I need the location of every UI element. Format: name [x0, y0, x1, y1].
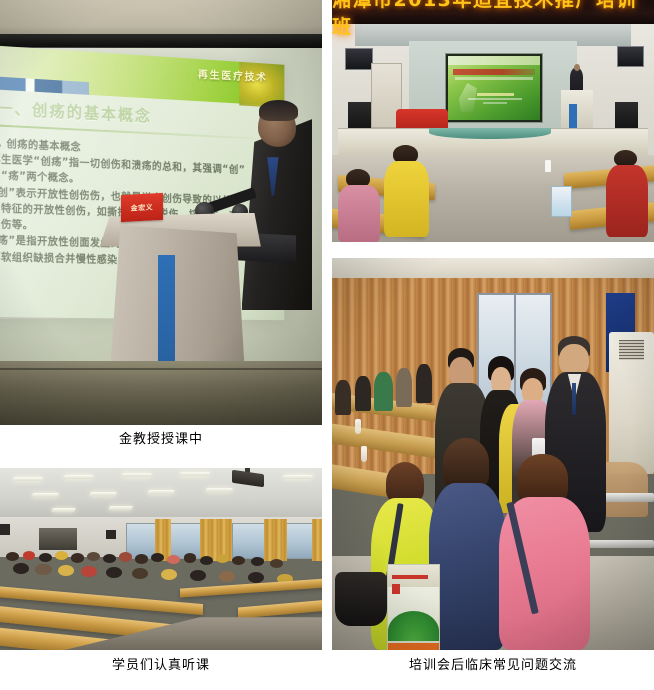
student-head — [81, 566, 97, 577]
ceiling-light — [282, 475, 313, 479]
student-head — [39, 553, 52, 562]
photo-banner-image: 湘潭市2013年适宜技术推广培训班 — [332, 0, 654, 242]
attendee-body — [384, 161, 429, 237]
ceiling-light — [64, 475, 95, 479]
attendee — [338, 169, 380, 242]
student-head — [87, 552, 100, 561]
vignette — [332, 258, 654, 650]
attendee — [606, 150, 648, 237]
student-head — [119, 552, 132, 561]
student-head — [167, 555, 180, 564]
student-head — [216, 554, 229, 563]
stage-slide-topbar — [448, 56, 541, 65]
student-head — [132, 568, 148, 579]
vignette — [0, 0, 322, 425]
tote-bag — [551, 186, 572, 217]
ceiling-light — [89, 492, 117, 496]
student-head — [184, 553, 197, 562]
stage-slide-date-bar — [483, 102, 507, 104]
student-head — [6, 552, 19, 561]
student-head — [71, 553, 84, 562]
stage-slide — [448, 56, 541, 120]
student-head — [13, 563, 29, 574]
wall-monitor-right — [617, 46, 645, 67]
stage-slide-affil-bar — [468, 98, 522, 100]
student-head — [35, 564, 51, 575]
stage-slide-author-bar — [477, 93, 514, 96]
student-head — [23, 551, 36, 560]
wall-monitor-left — [345, 48, 373, 69]
student-head — [251, 557, 264, 566]
photo-collage: 再生医疗技术 一、创疡的基本概念 1. 创疡的基本概念 再生医学“创疡”指一切创… — [0, 0, 654, 690]
student-head — [58, 565, 74, 576]
photo-classroom — [0, 468, 322, 650]
student-head — [106, 567, 122, 578]
photo-discussion — [332, 258, 654, 650]
led-banner-text: 湘潭市2013年适宜技术推广培训班 — [332, 0, 654, 39]
student-head — [151, 553, 164, 562]
photo-discussion-image — [332, 258, 654, 650]
student-head — [270, 559, 283, 568]
led-banner: 湘潭市2013年适宜技术推广培训班 — [332, 0, 654, 24]
student-head — [190, 570, 206, 581]
student-head — [232, 556, 245, 565]
photo-lecture-image: 再生医疗技术 一、创疡的基本概念 1. 创疡的基本概念 再生医学“创疡”指一切创… — [0, 0, 322, 425]
desk-row — [238, 598, 322, 618]
attendee-body — [338, 185, 380, 242]
ceiling-light — [12, 477, 43, 481]
caption-discussion: 培训会后临床常见问题交流 — [332, 658, 654, 674]
wall-speaker — [0, 524, 10, 535]
student-head — [248, 572, 264, 583]
stage-slide-subtitle-bar — [455, 77, 533, 80]
ceiling-light — [205, 488, 233, 492]
attendee — [384, 145, 429, 237]
ceiling-light — [109, 506, 133, 510]
wall-speaker — [106, 530, 116, 539]
student-head — [200, 556, 213, 565]
student-head — [103, 554, 116, 563]
student-head — [135, 554, 148, 563]
ceiling-light — [147, 490, 175, 494]
stage-slide-title-bar — [453, 69, 534, 75]
caption-lecture: 金教授授课中 — [0, 432, 322, 448]
ceiling-light — [179, 472, 210, 476]
stage-projection-screen — [445, 53, 544, 123]
water-bottle — [545, 160, 551, 172]
photo-classroom-image — [0, 468, 322, 650]
presenter-figure — [570, 68, 583, 92]
ceiling-light — [51, 508, 75, 512]
student-head — [55, 551, 68, 560]
attendee-body — [606, 165, 648, 237]
photo-lecture: 再生医疗技术 一、创疡的基本概念 1. 创疡的基本概念 再生医学“创疡”指一切创… — [0, 0, 322, 425]
photo-banner-room: 湘潭市2013年适宜技术推广培训班 — [332, 0, 654, 242]
student-head — [219, 571, 235, 582]
student-head — [161, 569, 177, 580]
caption-classroom: 学员们认真听课 — [0, 658, 322, 674]
